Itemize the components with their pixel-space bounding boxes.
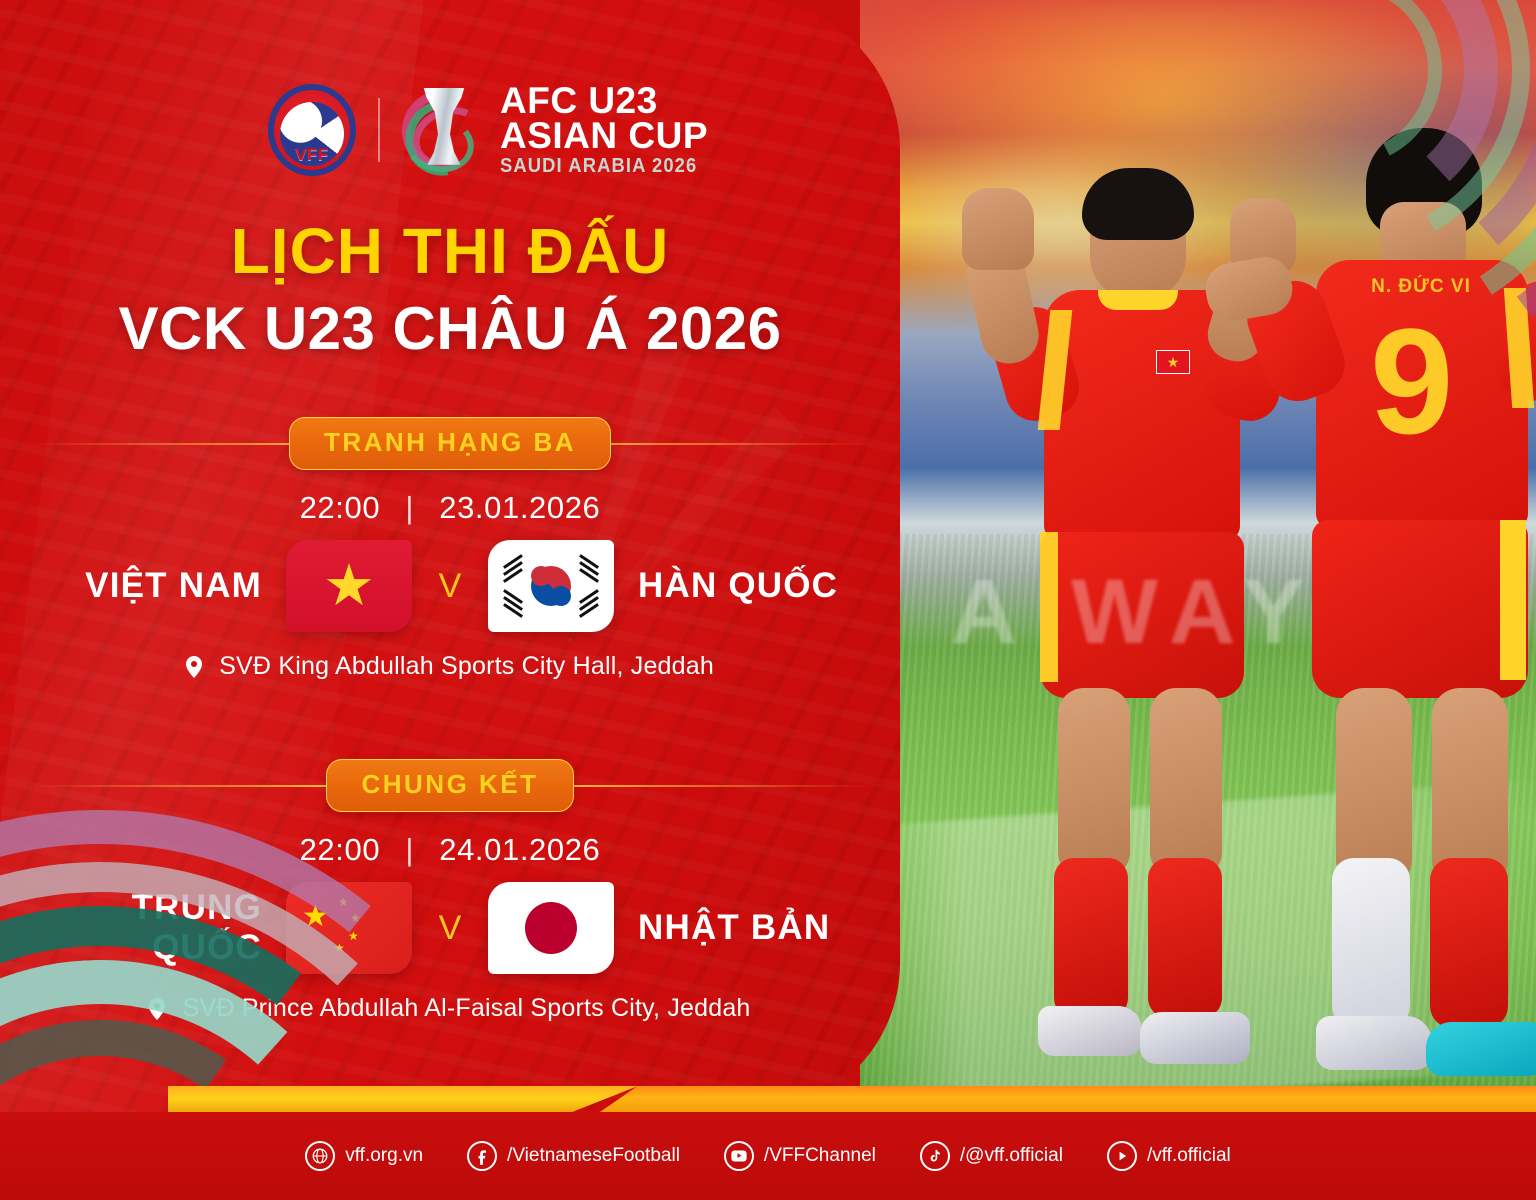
social-label-tiktok: /@vff.official xyxy=(960,1145,1063,1167)
badge-rule-left xyxy=(30,443,330,445)
header-logos: VFF AFC U23 ASIAN CUP SAUDI ARABIA 2026 xyxy=(268,82,715,178)
match-2-vs: V xyxy=(412,909,488,948)
social-label-facebook: /VietnameseFootball xyxy=(507,1145,680,1167)
afc-title-line3: SAUDI ARABIA 2026 xyxy=(500,157,697,176)
match-1-datetime-separator: | xyxy=(405,490,414,526)
vff-logo-text: VFF xyxy=(295,145,329,165)
badge-rule-right xyxy=(570,785,870,787)
badge-rule-right xyxy=(570,443,870,445)
social-link-play[interactable]: /vff.official xyxy=(1107,1141,1231,1171)
afc-trophy-icon xyxy=(402,82,486,178)
flag-south-korea-icon xyxy=(488,540,614,632)
social-label-youtube: /VFFChannel xyxy=(764,1145,876,1167)
afc-logo: AFC U23 ASIAN CUP SAUDI ARABIA 2026 xyxy=(402,82,715,178)
match-2-datetime: 22:00 | 24.01.2026 xyxy=(0,832,900,868)
match-1-stage-badge: TRANH HẠNG BA xyxy=(289,417,611,470)
match-1-time: 22:00 xyxy=(300,490,381,525)
decor-gold-bar-right xyxy=(600,1086,1536,1112)
match-1-home-team: VIỆT NAM xyxy=(36,566,286,606)
vff-logo-icon: VFF xyxy=(268,84,356,176)
flag-japan-icon xyxy=(488,882,614,974)
title-line-1: LỊCH THI ĐẤU xyxy=(0,214,900,288)
youtube-icon xyxy=(724,1141,754,1171)
social-label-website: vff.org.vn xyxy=(345,1145,423,1167)
match-1-teams: VIỆT NAM ★ V HÀN QUỐC xyxy=(0,540,900,632)
location-pin-icon xyxy=(149,998,165,1020)
location-pin-icon xyxy=(186,656,202,678)
flag-vietnam-icon: ★ xyxy=(286,540,412,632)
afc-title-line1: AFC U23 xyxy=(500,84,715,119)
play-icon xyxy=(1107,1141,1137,1171)
afc-title-line2: ASIAN CUP xyxy=(500,119,715,154)
poster-root: ★ N. ĐỨC VI 9 xyxy=(0,0,1536,1200)
social-link-website[interactable]: vff.org.vn xyxy=(305,1141,423,1171)
match-2-away-team: NHẬT BẢN xyxy=(614,908,864,948)
social-label-play: /vff.official xyxy=(1147,1145,1231,1167)
social-link-youtube[interactable]: /VFFChannel xyxy=(724,1141,876,1171)
match-2-teams: TRUNG QUỐC ★ ★ ★ ★ ★ V NHẬT BẢN xyxy=(0,882,900,974)
logo-divider xyxy=(378,98,380,162)
match-1-venue-text: SVĐ King Abdullah Sports City Hall, Jedd… xyxy=(219,652,714,680)
match-card-1: TRANH HẠNG BA 22:00 | 23.01.2026 VIỆT NA… xyxy=(0,418,900,681)
match-photo: ★ N. ĐỨC VI 9 xyxy=(860,0,1536,1113)
match-1-away-team: HÀN QUỐC xyxy=(614,566,864,606)
match-2-date: 24.01.2026 xyxy=(439,832,600,867)
match-card-2: CHUNG KẾT 22:00 | 24.01.2026 TRUNG QUỐC … xyxy=(0,760,900,1023)
match-1-vs: V xyxy=(412,567,488,606)
match-2-venue-text: SVĐ Prince Abdullah Al-Faisal Sports Cit… xyxy=(183,994,751,1022)
match-2-datetime-separator: | xyxy=(405,832,414,868)
facebook-icon xyxy=(467,1141,497,1171)
match-2-home-team: TRUNG QUỐC xyxy=(36,888,286,968)
social-link-tiktok[interactable]: /@vff.official xyxy=(920,1141,1063,1171)
match-2-time: 22:00 xyxy=(300,832,381,867)
match-2-stage-badge: CHUNG KẾT xyxy=(326,759,573,812)
footer-social-bar: vff.org.vn /VietnameseFootball /VFFChann… xyxy=(0,1112,1536,1200)
decor-gold-bar-left xyxy=(168,1086,638,1112)
flag-china-icon: ★ ★ ★ ★ ★ xyxy=(286,882,412,974)
badge-rule-left xyxy=(30,785,330,787)
match-1-badge-row: TRANH HẠNG BA xyxy=(0,418,900,468)
tiktok-icon xyxy=(920,1141,950,1171)
stadium-ad-text: R A WAY xyxy=(860,560,1536,665)
match-2-venue: SVĐ Prince Abdullah Al-Faisal Sports Cit… xyxy=(0,994,900,1023)
match-2-badge-row: CHUNG KẾT xyxy=(0,760,900,810)
globe-icon xyxy=(305,1141,335,1171)
social-link-facebook[interactable]: /VietnameseFootball xyxy=(467,1141,680,1171)
page-title: LỊCH THI ĐẤU VCK U23 CHÂU Á 2026 xyxy=(0,214,900,363)
title-line-2: VCK U23 CHÂU Á 2026 xyxy=(0,294,900,363)
match-1-venue: SVĐ King Abdullah Sports City Hall, Jedd… xyxy=(0,652,900,681)
match-1-datetime: 22:00 | 23.01.2026 xyxy=(0,490,900,526)
match-1-date: 23.01.2026 xyxy=(439,490,600,525)
